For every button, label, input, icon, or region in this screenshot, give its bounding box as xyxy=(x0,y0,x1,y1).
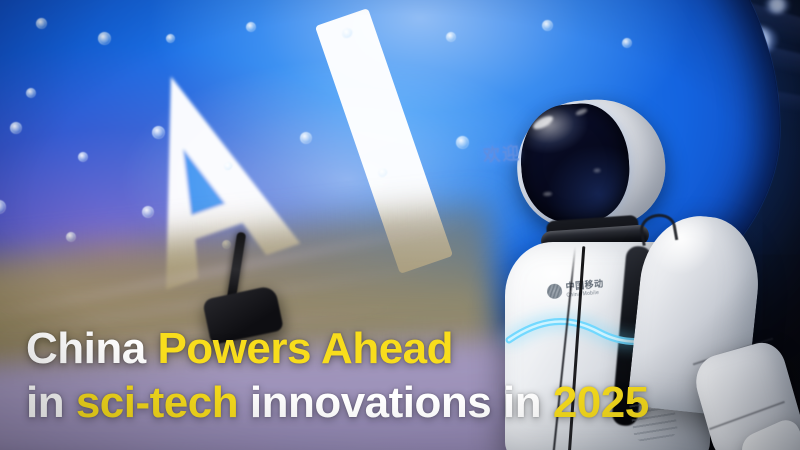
bokeh-dot xyxy=(152,126,165,139)
headline-seg: China xyxy=(26,324,157,373)
bokeh-dot xyxy=(10,122,22,134)
bokeh-dot xyxy=(224,162,233,171)
bokeh-dot xyxy=(378,168,388,178)
headline: China Powers Ahead in sci-tech innovatio… xyxy=(26,327,766,425)
bokeh-dot xyxy=(78,152,88,162)
bokeh-dot xyxy=(36,18,47,29)
robot-face-text: 欢迎 xyxy=(482,139,522,167)
china-mobile-mark-icon xyxy=(546,283,562,299)
headline-seg-year: 2025 xyxy=(553,378,649,427)
banner-image: 欢迎 中国移动 China Mobile China Powers Ahead xyxy=(0,0,800,450)
bokeh-dot xyxy=(246,22,256,32)
headline-seg: sci-tech xyxy=(76,378,238,427)
bokeh-dot xyxy=(622,38,632,48)
headline-seg: Powers Ahead xyxy=(157,324,453,373)
headline-line-1: China Powers Ahead xyxy=(26,327,766,371)
bokeh-dot xyxy=(142,206,154,218)
bokeh-dot xyxy=(300,132,312,144)
bokeh-dot xyxy=(542,20,553,31)
bokeh-dot xyxy=(342,28,353,39)
bokeh-dot xyxy=(98,32,111,45)
headline-line-2: in sci-tech innovations in 2025 xyxy=(26,381,766,425)
bokeh-dot xyxy=(66,232,76,242)
bokeh-dot xyxy=(26,88,36,98)
bokeh-dot xyxy=(446,32,456,42)
headline-seg: in xyxy=(26,378,76,427)
bokeh-dot xyxy=(166,34,175,43)
headline-seg: innovations in xyxy=(238,378,553,427)
